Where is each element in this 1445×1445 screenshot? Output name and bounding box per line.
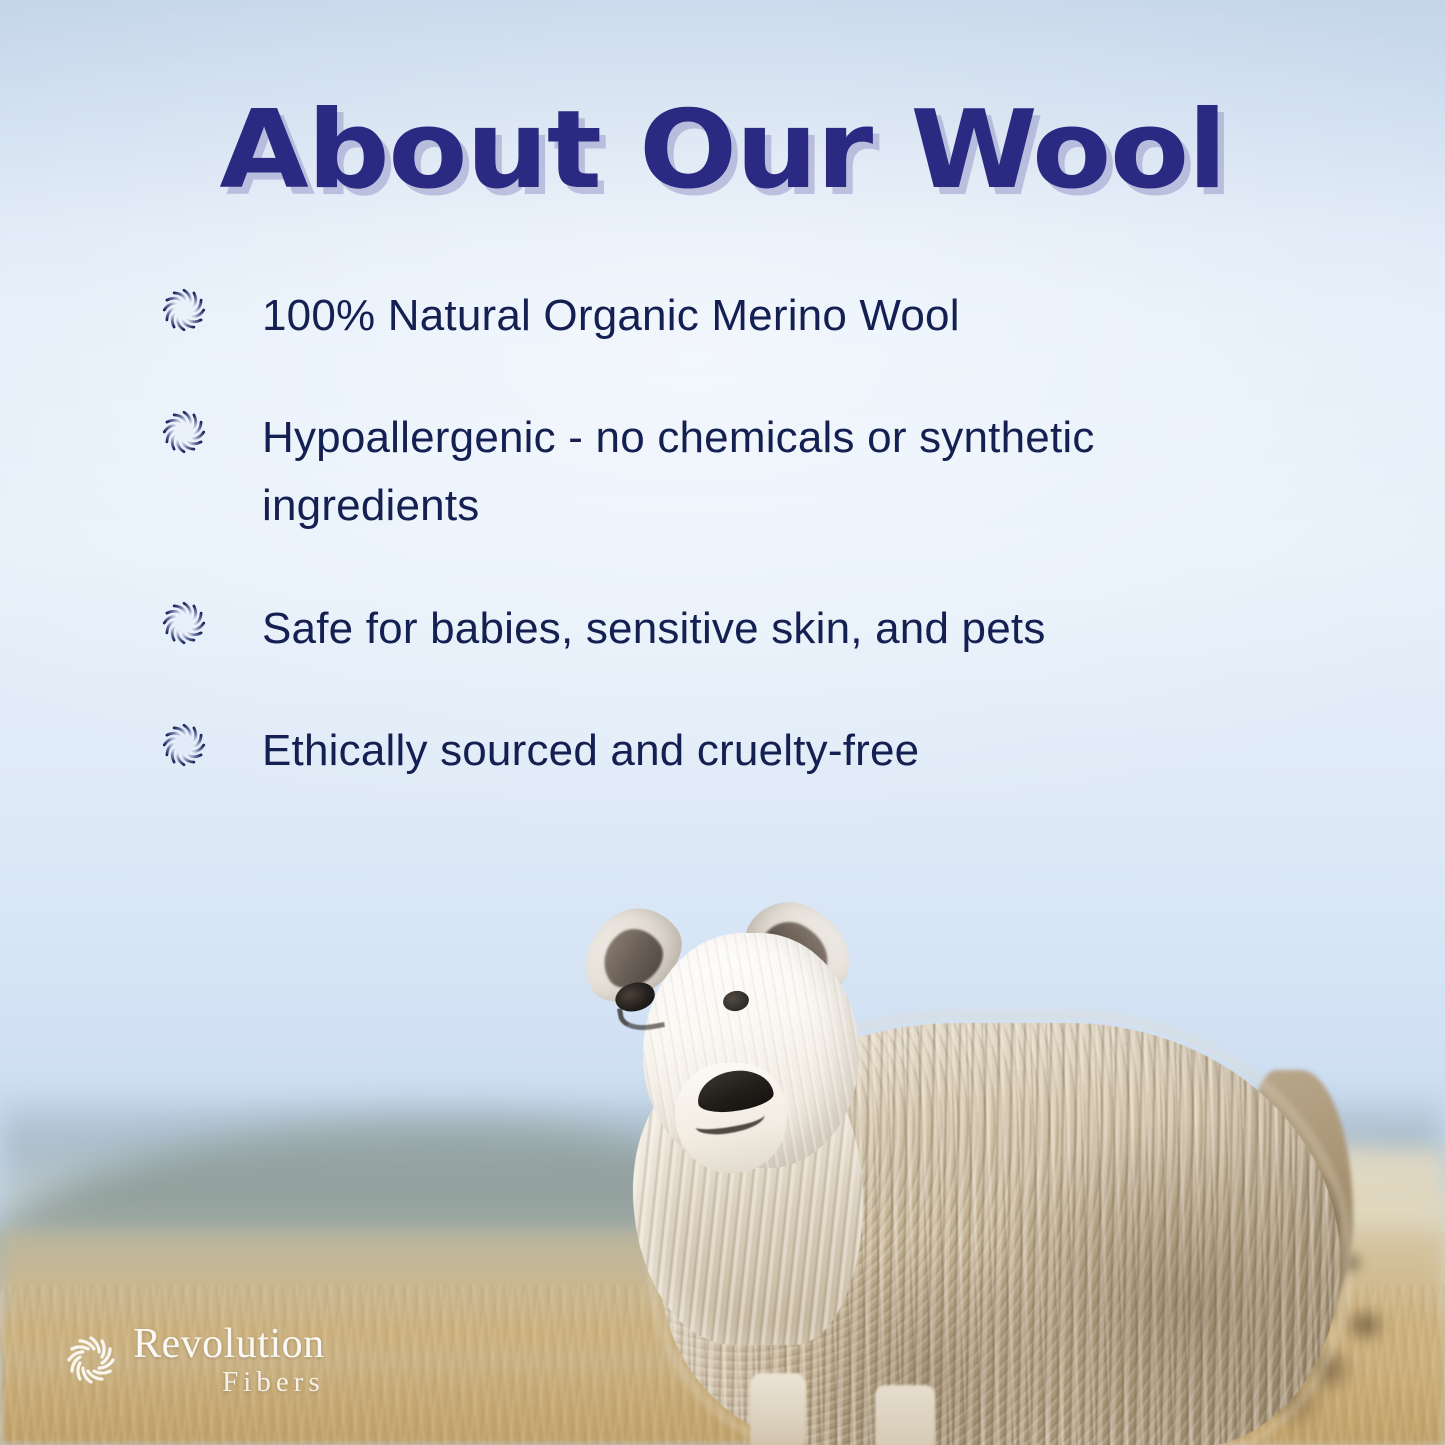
wool-swirl-icon: [62, 1331, 120, 1389]
wool-swirl-icon: [158, 406, 210, 458]
feature-list: 100% Natural Organic Merino Wool: [158, 282, 1318, 785]
sheep-photo: [545, 895, 1335, 1445]
sheep-leg-front: [750, 1373, 806, 1445]
wool-swirl-icon: [158, 597, 210, 649]
sheep-leg-rear: [875, 1385, 935, 1445]
logo-brand-sub: Fibers: [222, 1368, 325, 1397]
list-item: Ethically sourced and cruelty-free: [158, 717, 1318, 785]
list-item-label: Hypoallergenic - no chemicals or synthet…: [262, 404, 1272, 540]
list-item: Safe for babies, sensitive skin, and pet…: [158, 595, 1318, 663]
list-item: Hypoallergenic - no chemicals or synthet…: [158, 404, 1318, 540]
page-title: About Our Wool: [0, 88, 1445, 213]
list-item-label: 100% Natural Organic Merino Wool: [262, 282, 960, 350]
list-item: 100% Natural Organic Merino Wool: [158, 282, 1318, 350]
list-item-label: Ethically sourced and cruelty-free: [262, 717, 919, 785]
logo-brand-name: Revolution: [133, 1323, 325, 1365]
wool-swirl-icon: [158, 719, 210, 771]
brand-logo: Revolution Fibers: [62, 1323, 325, 1397]
about-our-wool-poster: About Our Wool: [0, 0, 1445, 1445]
list-item-label: Safe for babies, sensitive skin, and pet…: [262, 595, 1046, 663]
wool-swirl-icon: [158, 284, 210, 336]
